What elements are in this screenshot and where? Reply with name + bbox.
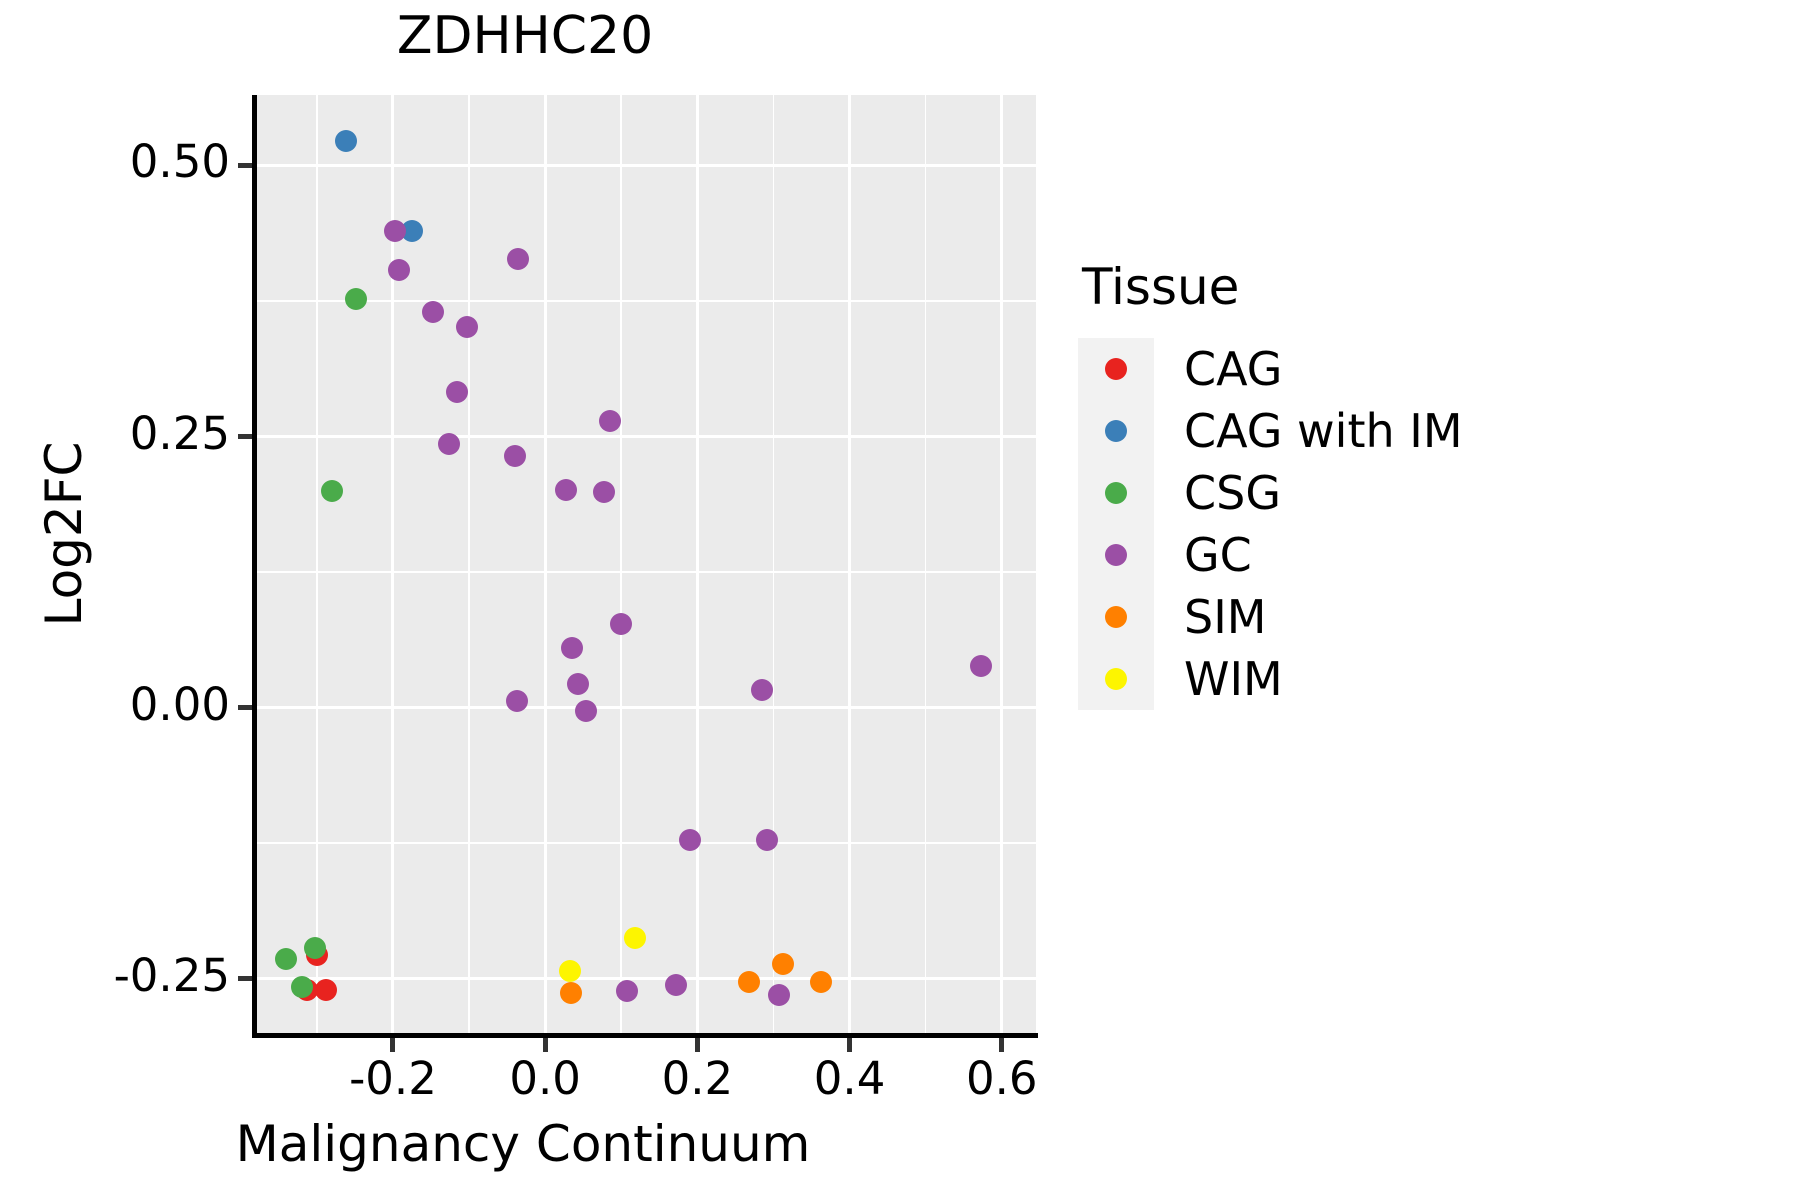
y-tick-label: 0.00 <box>130 678 230 731</box>
data-point-csg <box>304 937 326 959</box>
x-tick-mark <box>543 1038 548 1052</box>
x-tick-mark <box>390 1038 395 1052</box>
gridline-minor-vertical <box>316 95 318 1033</box>
y-tick-mark <box>238 163 252 168</box>
page-title: ZDHHC20 <box>0 8 1050 65</box>
data-point-sim <box>772 953 794 975</box>
gridline-major-vertical <box>544 95 547 1033</box>
legend-title: Tissue <box>1082 258 1778 316</box>
data-point-gc <box>567 673 589 695</box>
data-point-gc <box>593 481 615 503</box>
data-point-cag-with-im <box>335 130 357 152</box>
data-point-gc <box>610 613 632 635</box>
gridline-major-horizontal <box>256 706 1036 709</box>
legend-item-csg[interactable]: CSG <box>1078 462 1463 524</box>
data-point-gc <box>388 259 410 281</box>
x-tick-mark <box>695 1038 700 1052</box>
legend-item-wim[interactable]: WIM <box>1078 648 1463 710</box>
legend-item-gc[interactable]: GC <box>1078 524 1463 586</box>
gridline-minor-horizontal <box>256 300 1036 302</box>
y-tick-mark <box>238 976 252 981</box>
data-point-gc <box>616 980 638 1002</box>
data-point-gc <box>456 316 478 338</box>
data-point-gc <box>504 445 526 467</box>
data-point-csg <box>321 480 343 502</box>
legend-key-icon <box>1078 482 1154 504</box>
legend-items: CAGCAG with IMCSGGCSIMWIM <box>1078 338 1463 710</box>
legend-dot-icon <box>1105 420 1127 442</box>
y-tick-label: 0.25 <box>130 407 230 460</box>
legend-item-label: CAG with IM <box>1154 404 1463 458</box>
data-point-csg <box>291 976 313 998</box>
legend-key-icon <box>1078 420 1154 442</box>
legend-dot-icon <box>1105 482 1127 504</box>
data-point-gc <box>665 974 687 996</box>
gridline-major-vertical <box>848 95 851 1033</box>
data-point-sim <box>810 971 832 993</box>
data-point-wim <box>624 927 646 949</box>
plot-panel <box>256 95 1036 1033</box>
legend-key-icon <box>1078 358 1154 380</box>
y-axis-line <box>252 95 257 1036</box>
legend-item-label: CSG <box>1154 466 1281 520</box>
gridline-minor-horizontal <box>256 571 1036 573</box>
gridline-minor-vertical <box>468 95 470 1033</box>
gridline-major-horizontal <box>256 977 1036 980</box>
gridline-major-vertical <box>1000 95 1003 1033</box>
x-tick-mark <box>999 1038 1004 1052</box>
legend-item-cag-with-im[interactable]: CAG with IM <box>1078 400 1463 462</box>
legend-dot-icon <box>1105 544 1127 566</box>
data-point-gc <box>970 655 992 677</box>
y-tick-label: 0.50 <box>130 135 230 188</box>
data-point-gc <box>422 301 444 323</box>
legend-item-label: SIM <box>1154 590 1266 644</box>
y-tick-mark <box>238 705 252 710</box>
data-point-gc <box>555 479 577 501</box>
data-point-gc <box>438 433 460 455</box>
data-point-gc <box>446 381 468 403</box>
legend: Tissue CAGCAG with IMCSGGCSIMWIM <box>1078 258 1778 710</box>
legend-item-cag[interactable]: CAG <box>1078 338 1463 400</box>
data-point-sim <box>738 971 760 993</box>
data-point-cag <box>315 979 337 1001</box>
legend-key-icon <box>1078 544 1154 566</box>
x-tick-label: 0.4 <box>814 1052 886 1105</box>
legend-dot-icon <box>1105 358 1127 380</box>
legend-dot-icon <box>1105 668 1127 690</box>
gridline-major-horizontal <box>256 164 1036 167</box>
data-point-sim <box>560 982 582 1004</box>
legend-item-label: CAG <box>1154 342 1282 396</box>
data-point-gc <box>506 690 528 712</box>
x-tick-label: -0.2 <box>349 1052 437 1105</box>
data-point-gc <box>679 829 701 851</box>
legend-item-sim[interactable]: SIM <box>1078 586 1463 648</box>
legend-dot-icon <box>1105 606 1127 628</box>
gridline-minor-vertical <box>620 95 622 1033</box>
x-tick-label: 0.2 <box>662 1052 734 1105</box>
legend-key-icon <box>1078 668 1154 690</box>
x-axis-title: Malignancy Continuum <box>0 1115 1046 1173</box>
data-point-gc <box>507 248 529 270</box>
data-point-gc <box>751 679 773 701</box>
x-tick-label: 0.0 <box>509 1052 581 1105</box>
x-axis-line <box>252 1033 1038 1038</box>
y-tick-mark <box>238 434 252 439</box>
data-point-gc <box>561 637 583 659</box>
data-point-gc <box>768 984 790 1006</box>
x-tick-mark <box>847 1038 852 1052</box>
y-tick-label: -0.25 <box>114 949 230 1002</box>
data-point-gc <box>599 410 621 432</box>
gridline-minor-horizontal <box>256 842 1036 844</box>
legend-key-icon <box>1078 606 1154 628</box>
gridline-minor-vertical <box>925 95 927 1033</box>
gridline-minor-vertical <box>773 95 775 1033</box>
gridline-major-horizontal <box>256 435 1036 438</box>
x-tick-label: 0.6 <box>966 1052 1038 1105</box>
data-point-gc <box>756 829 778 851</box>
legend-item-label: GC <box>1154 528 1252 582</box>
data-point-csg <box>345 288 367 310</box>
gridline-major-vertical <box>696 95 699 1033</box>
chart-root: ZDHHC20 -0.250.000.250.50-0.20.00.20.40.… <box>0 0 1800 1200</box>
data-point-csg <box>275 948 297 970</box>
legend-item-label: WIM <box>1154 652 1283 706</box>
data-point-gc <box>575 700 597 722</box>
data-point-gc <box>384 220 406 242</box>
y-axis-title: Log2FC <box>35 254 93 814</box>
